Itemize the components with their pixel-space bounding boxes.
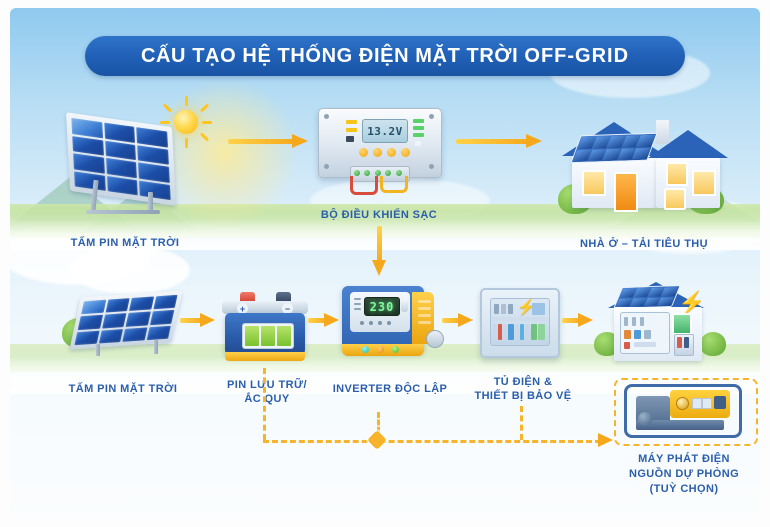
inverter-status-led <box>377 346 384 353</box>
sun-ray <box>163 103 172 112</box>
breaker <box>494 304 499 314</box>
breaker <box>624 317 628 326</box>
battery-base <box>225 352 305 361</box>
arrow-shaft <box>456 139 530 144</box>
panel-cell <box>71 118 102 138</box>
panel-cell <box>81 300 106 315</box>
house-window <box>692 170 716 196</box>
led-indicator <box>346 128 357 132</box>
inverter-vent <box>418 314 431 317</box>
solar-panel-bottom <box>62 288 182 366</box>
arrow-head <box>526 134 542 148</box>
house-with-panel: ⚡ <box>594 276 722 370</box>
led-indicator <box>346 120 357 124</box>
led-indicator <box>413 119 424 123</box>
generator-dial <box>676 397 689 410</box>
panel-cell <box>122 327 147 342</box>
wire-red <box>350 176 378 195</box>
meter-display <box>677 337 682 348</box>
page-title-strong: OFF-GRID <box>524 45 629 67</box>
wire-yellow <box>380 176 408 193</box>
generator-wheel <box>638 412 652 426</box>
label-generator: MÁY PHÁT ĐIỆN NGUỒN DỰ PHÒNG (TUỲ CHỌN) <box>600 452 768 497</box>
control-knob[interactable] <box>401 148 410 157</box>
sun-ray <box>185 138 188 148</box>
inverter-display-value: 230 <box>370 300 395 314</box>
breaker <box>508 304 513 314</box>
breaker <box>632 317 636 326</box>
charge-controller-display-value: 13.2V <box>367 125 403 138</box>
panel-cell <box>98 329 123 344</box>
arrow-panel-to-battery <box>180 313 220 327</box>
breaker <box>644 330 651 339</box>
house-window-green <box>672 313 692 335</box>
breaker <box>624 342 630 349</box>
panel-cell <box>72 136 103 156</box>
panel-leg <box>96 344 100 356</box>
generator-switch[interactable] <box>714 396 726 409</box>
bush <box>700 332 726 356</box>
label-solar-panel-bottom: TẤM PIN MẶT TRỜI <box>48 382 198 396</box>
inverter-indicator-line <box>354 308 361 310</box>
label-charge-controller: BỘ ĐIỀU KHIỂN SẠC <box>309 208 449 222</box>
arrow-head <box>372 260 386 276</box>
panel-cells <box>71 118 170 200</box>
arrow-head <box>598 433 613 447</box>
arrow-shaft <box>228 139 296 144</box>
panel-cell <box>105 298 130 313</box>
breaker <box>531 324 537 340</box>
label-battery: PIN LƯU TRỮ/ ẮC QUY <box>207 378 327 406</box>
dashed-line-bottom <box>263 440 601 443</box>
dashed-line-from-battery <box>263 368 266 440</box>
arrow-cabinet-to-house-panel <box>562 313 596 327</box>
roof-cell <box>637 135 655 147</box>
breaker <box>525 324 530 340</box>
inverter-button[interactable] <box>369 321 373 325</box>
arrow-head <box>458 313 473 327</box>
panel-cell <box>106 158 137 178</box>
inverter-button[interactable] <box>378 321 382 325</box>
dashed-line-from-cabinet <box>520 406 523 440</box>
breaker <box>503 324 507 340</box>
inverter: 230 <box>338 282 442 366</box>
label-house-load: NHÀ Ở – TẢI TIÊU THỤ <box>554 237 734 251</box>
panel-cell <box>146 325 171 340</box>
generator <box>620 382 748 438</box>
arrow-inverter-to-cabinet <box>442 313 476 327</box>
generator-outlet <box>692 398 702 409</box>
lightning-bolt-icon: ⚡ <box>678 292 705 314</box>
panel-cell <box>74 330 99 345</box>
busbar <box>492 317 546 321</box>
breaker <box>640 317 644 326</box>
inverter-button[interactable] <box>387 321 391 325</box>
breaker <box>532 303 545 315</box>
arrow-controller-to-inverter <box>372 226 386 280</box>
inverter-lcd: 230 <box>364 297 400 316</box>
page-title: CẤU TẠO HỆ THỐNG ĐIỆN MẶT TRỜI OFF-GRID <box>141 45 629 68</box>
panel-cell <box>153 295 178 310</box>
house-load <box>556 108 726 218</box>
battery-level-bar <box>261 326 275 346</box>
breaker <box>624 330 631 339</box>
house-window <box>666 162 688 186</box>
charge-controller: 13.2V <box>318 108 440 200</box>
panel-cell <box>126 312 151 327</box>
sun-ray <box>200 103 209 112</box>
panel-cell <box>78 315 103 330</box>
arrow-shaft <box>377 226 382 264</box>
breaker <box>515 324 519 340</box>
roof-cell <box>658 297 674 306</box>
cloud-2 <box>70 246 190 294</box>
arrow-controller-to-house <box>456 134 546 148</box>
inverter-button[interactable] <box>401 299 408 312</box>
sun-ray <box>202 121 212 124</box>
battery-level-bar <box>277 326 291 346</box>
sun-ray <box>185 96 188 106</box>
chimney <box>656 120 669 144</box>
battery: + − <box>222 292 308 364</box>
control-knob[interactable] <box>359 148 368 157</box>
arrow-head <box>292 134 308 148</box>
arrow-head <box>578 313 593 327</box>
house-door <box>614 172 638 212</box>
electrical-cabinet: ⚡ <box>478 286 562 362</box>
arrow-panel-to-controller <box>228 134 312 148</box>
panel-leg <box>148 192 153 212</box>
panel-cell <box>149 310 174 325</box>
breaker <box>520 324 524 340</box>
label-solar-panel-top: TẤM PIN MẶT TRỜI <box>50 236 200 250</box>
screw-hole <box>324 164 329 169</box>
inverter-status-led <box>392 346 399 353</box>
screw-hole <box>429 164 434 169</box>
inverter-status-led <box>362 346 369 353</box>
breaker <box>538 324 545 340</box>
arrow-head <box>324 313 339 327</box>
breaker <box>508 324 514 340</box>
panel-cell <box>102 313 127 328</box>
breaker <box>493 324 497 340</box>
battery-level-indicator <box>242 323 294 349</box>
led-indicator <box>346 136 354 142</box>
house-window <box>664 188 686 210</box>
panel-leg <box>154 340 158 354</box>
inverter-vent <box>418 300 431 303</box>
screw-hole <box>429 114 434 119</box>
arrow-head <box>200 313 215 327</box>
battery-level-bar <box>245 326 259 346</box>
control-knob[interactable] <box>373 148 382 157</box>
panel-cell <box>138 162 169 182</box>
roof-solar-panel <box>613 285 681 309</box>
panel-cell <box>137 145 168 165</box>
led-indicator <box>413 133 424 137</box>
panel-cell <box>73 153 104 173</box>
screw-hole <box>324 114 329 119</box>
roof-solar-panel <box>570 133 657 164</box>
roof-cell <box>662 287 678 296</box>
breaker <box>634 342 656 347</box>
inverter-button[interactable] <box>360 321 364 325</box>
charge-controller-lcd: 13.2V <box>362 119 408 143</box>
breaker <box>501 304 506 314</box>
panel-base <box>86 210 160 214</box>
page-title-banner: CẤU TẠO HỆ THỐNG ĐIỆN MẶT TRỜI OFF-GRID <box>85 36 685 76</box>
generator-outlet <box>702 398 712 409</box>
page-title-main: CẤU TẠO HỆ THỐNG ĐIỆN MẶT TRỜI <box>141 45 524 67</box>
control-knob[interactable] <box>387 148 396 157</box>
panel-cells <box>74 295 177 345</box>
panel-cell <box>129 296 154 311</box>
inverter-vent <box>418 307 431 310</box>
inverter-indicator-line <box>354 298 361 300</box>
label-inverter: INVERTER ĐỘC LẬP <box>320 382 460 396</box>
label-cabinet: TỦ ĐIỆN & THIẾT BỊ BẢO VỆ <box>460 375 586 403</box>
led-indicator <box>413 126 424 130</box>
led-indicator <box>415 141 421 146</box>
arrow-battery-to-inverter <box>308 313 342 327</box>
roof-cell <box>632 147 650 159</box>
infographic-root: CẤU TẠO HỆ THỐNG ĐIỆN MẶT TRỜI OFF-GRID … <box>0 0 770 527</box>
panel-cell <box>104 123 135 143</box>
solar-panel-top <box>62 118 182 218</box>
sun-ray <box>200 132 209 141</box>
house-window <box>582 170 606 196</box>
meter-display <box>684 337 689 348</box>
inverter-outlet <box>426 330 444 348</box>
panel-cell <box>105 140 136 160</box>
inverter-indicator-line <box>354 303 361 305</box>
inverter-vent <box>418 321 431 324</box>
breaker <box>498 324 502 340</box>
breaker <box>634 330 641 339</box>
panel-cell <box>137 127 168 147</box>
